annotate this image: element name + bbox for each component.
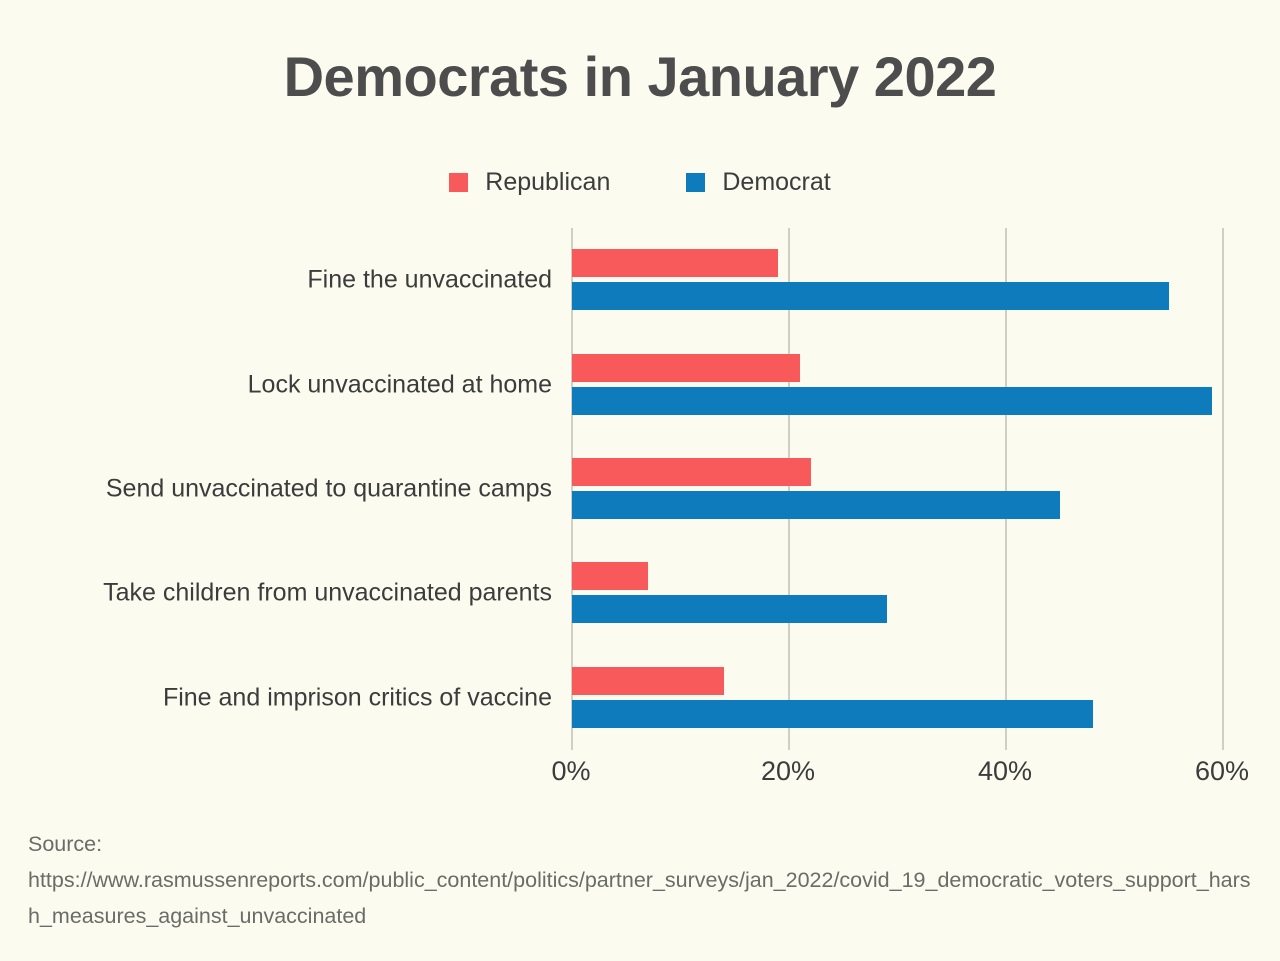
x-tick-label: 60% — [1195, 756, 1249, 787]
bar-pair — [572, 249, 1272, 311]
category-label: Send unvaccinated to quarantine camps — [106, 474, 552, 503]
bar-democrat[interactable] — [572, 282, 1169, 310]
bar-democrat[interactable] — [572, 595, 887, 623]
x-tick-label: 20% — [761, 756, 815, 787]
legend-swatch-icon — [449, 173, 468, 192]
source-url: https://www.rasmussenreports.com/public_… — [28, 862, 1258, 934]
x-axis-tick-labels: 0%20%40%60% — [0, 756, 1280, 796]
bar-pair — [572, 458, 1272, 520]
bar-republican[interactable] — [572, 667, 724, 695]
chart-page: Democrats in January 2022 RepublicanDemo… — [0, 0, 1280, 961]
bar-pair — [572, 354, 1272, 416]
bar-rows: Fine the unvaccinatedLock unvaccinated a… — [0, 228, 1280, 750]
x-tick-label: 40% — [978, 756, 1032, 787]
chart-legend: RepublicanDemocrat — [0, 168, 1280, 197]
bar-group: Lock unvaccinated at home — [0, 332, 1280, 436]
bar-republican[interactable] — [572, 249, 778, 277]
bar-pair — [572, 667, 1272, 729]
bar-group: Take children from unvaccinated parents — [0, 541, 1280, 645]
legend-label: Democrat — [722, 168, 830, 197]
bar-republican[interactable] — [572, 458, 811, 486]
legend-label: Republican — [485, 168, 610, 197]
bar-republican[interactable] — [572, 562, 648, 590]
bar-pair — [572, 562, 1272, 624]
category-label: Fine and imprison critics of vaccine — [163, 683, 552, 712]
source-label: Source: — [28, 826, 1258, 862]
plot-area: Fine the unvaccinatedLock unvaccinated a… — [0, 228, 1280, 750]
bar-group: Fine and imprison critics of vaccine — [0, 646, 1280, 750]
category-label: Fine the unvaccinated — [307, 266, 552, 295]
legend-swatch-icon — [686, 173, 705, 192]
chart-title: Democrats in January 2022 — [0, 44, 1280, 109]
bar-republican[interactable] — [572, 354, 800, 382]
legend-entry[interactable]: Republican — [449, 168, 610, 197]
source-note: Source: https://www.rasmussenreports.com… — [28, 826, 1258, 934]
bar-democrat[interactable] — [572, 700, 1093, 728]
bar-group: Send unvaccinated to quarantine camps — [0, 437, 1280, 541]
bar-group: Fine the unvaccinated — [0, 228, 1280, 332]
bar-democrat[interactable] — [572, 387, 1212, 415]
category-label: Take children from unvaccinated parents — [103, 579, 552, 608]
bar-democrat[interactable] — [572, 491, 1060, 519]
legend-entry[interactable]: Democrat — [686, 168, 830, 197]
category-label: Lock unvaccinated at home — [248, 370, 552, 399]
x-tick-label: 0% — [551, 756, 590, 787]
